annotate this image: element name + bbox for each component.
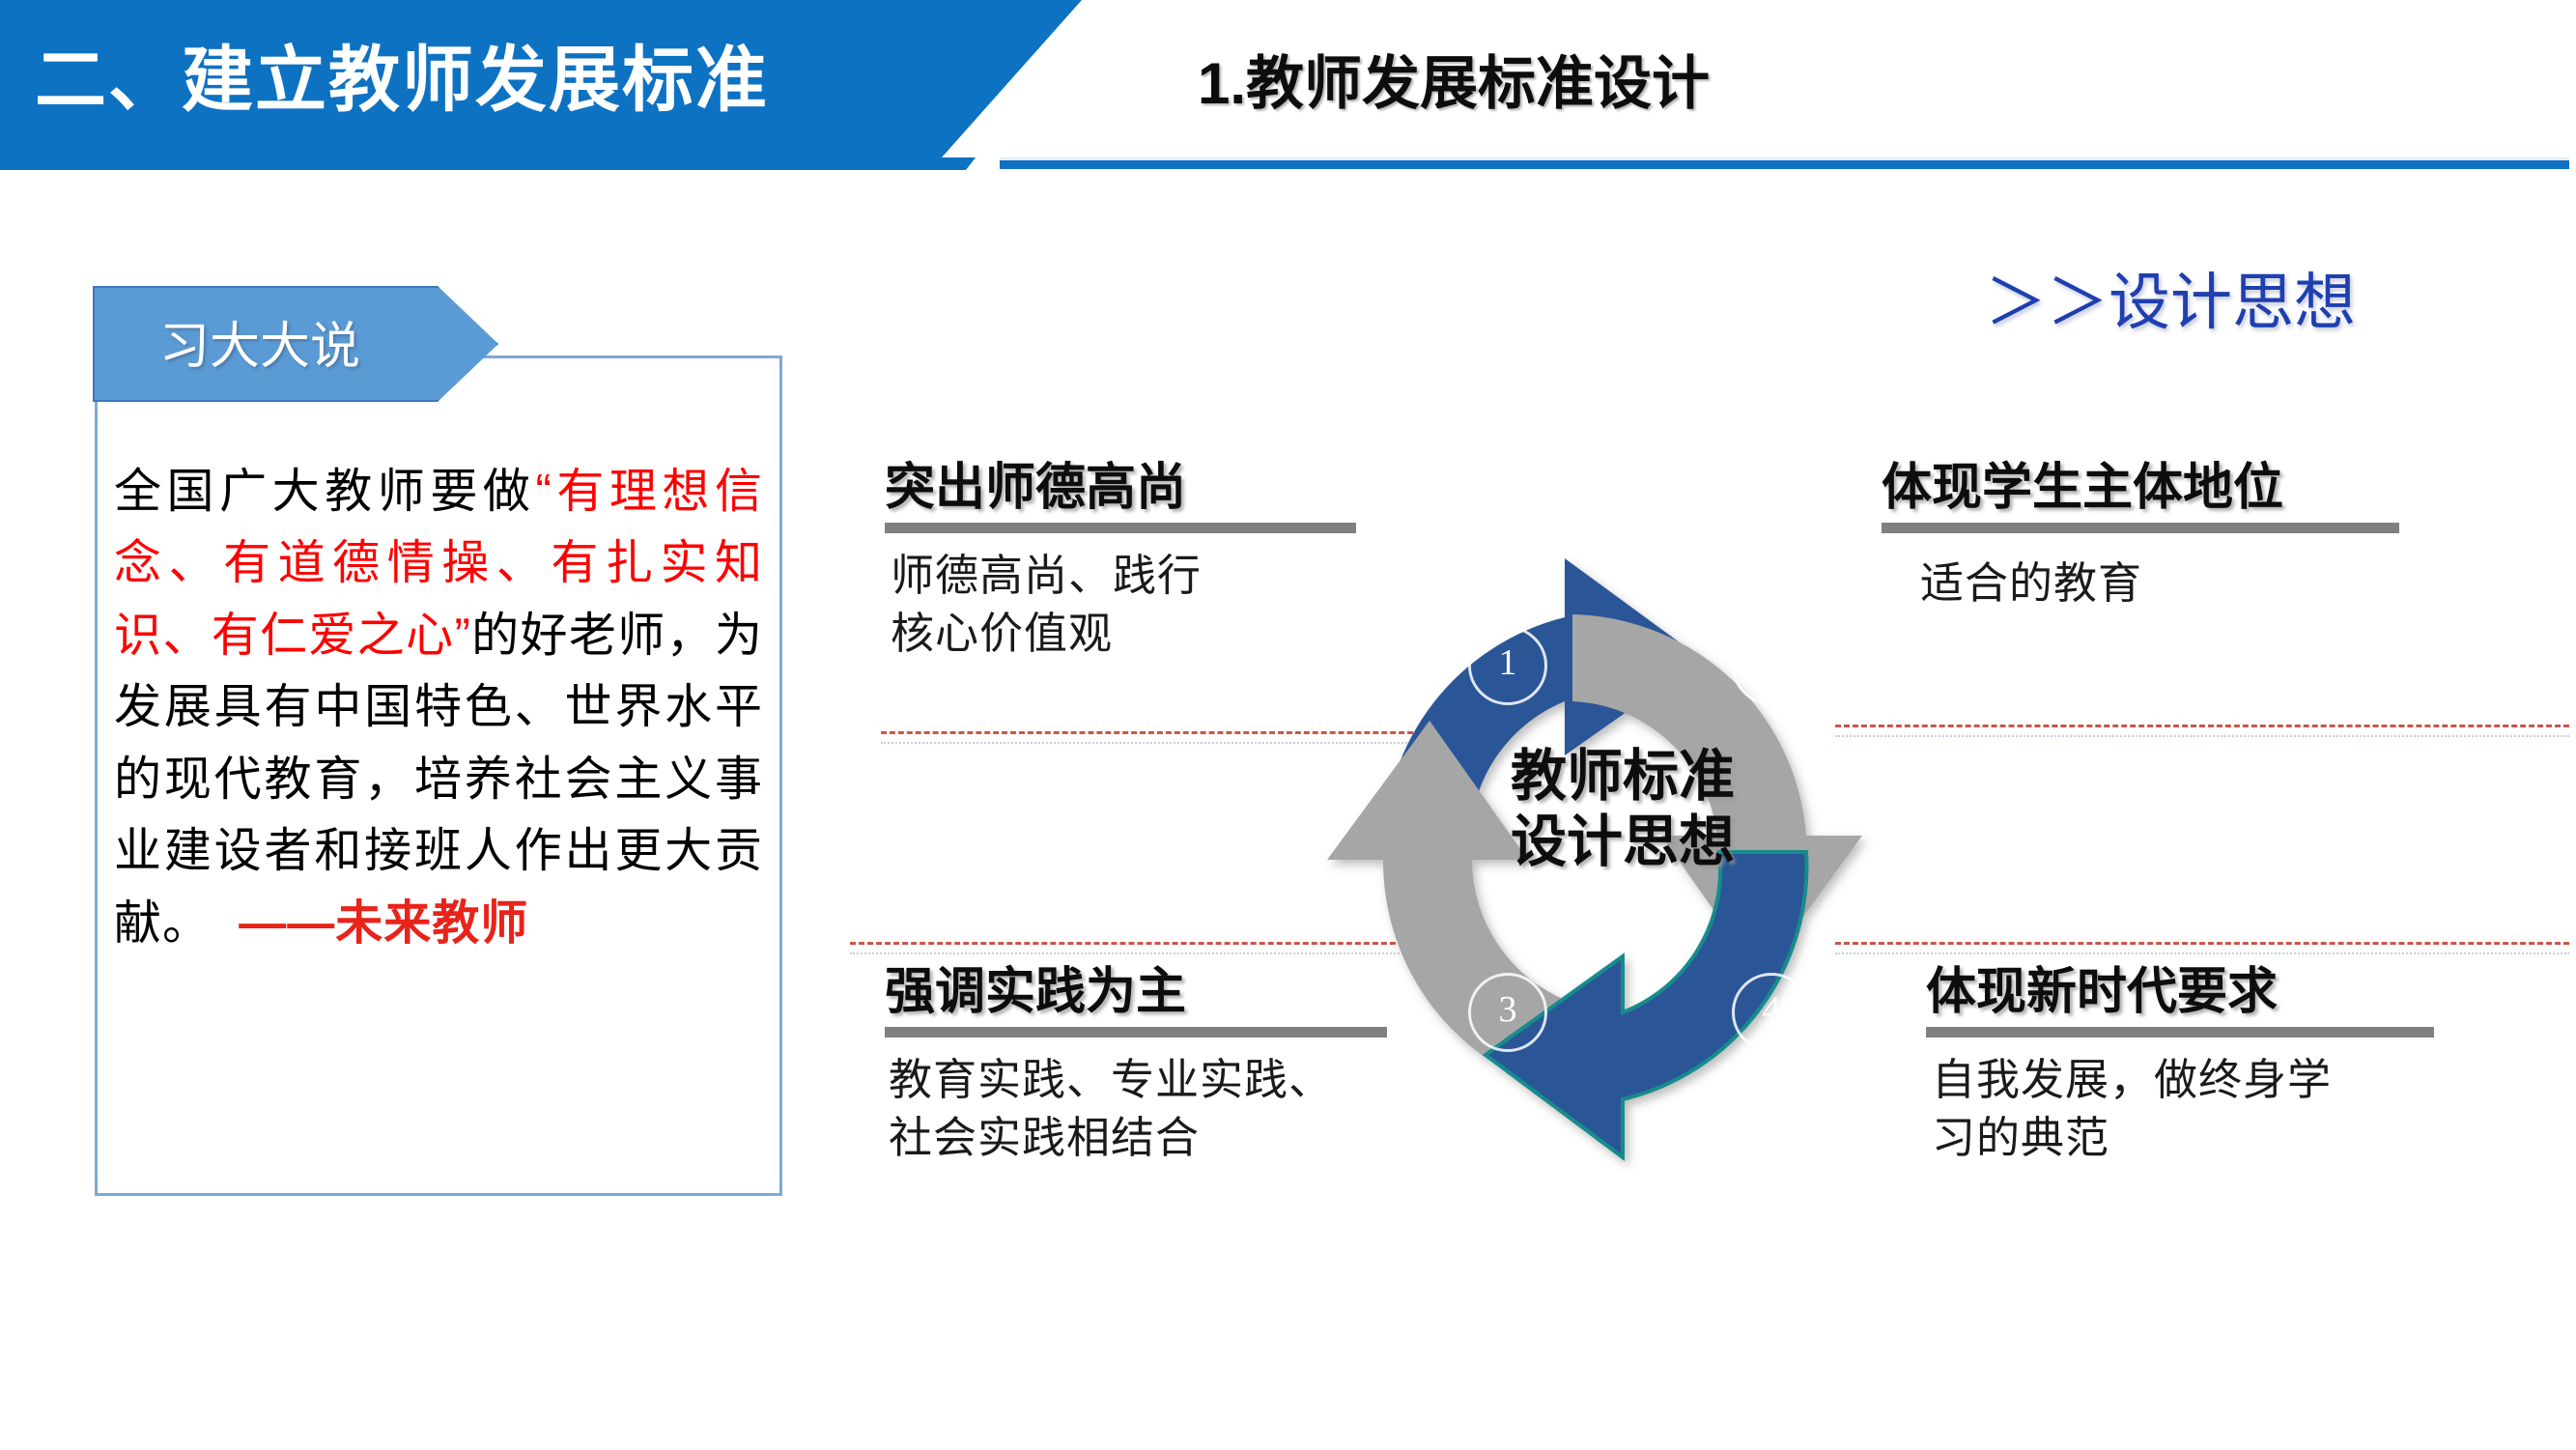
quadrant-1-body-line-1: 师德高尚、践行 (891, 547, 1426, 606)
quadrant-block-3: 强调实践为主 教育实践、专业实践、 社会实践相结合 (885, 966, 1464, 1168)
design-idea-heading: ＞＞设计思想 (1985, 253, 2356, 342)
quadrant-2-title: 体现学生主体地位 (1882, 462, 2480, 515)
quadrant-4-rule (1926, 1027, 2434, 1038)
quadrant-4-title: 体现新时代要求 (1926, 966, 2525, 1019)
guide-line-right-upper (1835, 725, 2569, 727)
cycle-number-badge-2: 2 (1732, 626, 1811, 705)
quadrant-1-rule (885, 523, 1356, 533)
header-blue-band-step (0, 157, 976, 170)
quadrant-block-2: 体现学生主体地位 适合的教育 (1882, 462, 2480, 612)
quadrant-3-body-line-2: 社会实践相结合 (889, 1109, 1464, 1168)
quadrant-block-1: 突出师德高尚 师德高尚、践行 核心价值观 (885, 462, 1426, 664)
quadrant-1-body-line-2: 核心价值观 (891, 605, 1426, 664)
guide-line-right-lower (1835, 942, 2569, 945)
quadrant-1-title: 突出师德高尚 (885, 462, 1426, 515)
quadrant-1-body: 师德高尚、践行 核心价值观 (885, 547, 1426, 665)
quote-body: 全国广大教师要做“有理想信念、有道德情操、有扎实知识、有仁爱之心”的好老师，为发… (114, 456, 763, 959)
cycle-number-badge-3: 3 (1468, 973, 1547, 1052)
guide-line-right-lower-dotted (1835, 952, 2569, 954)
quadrant-4-body-line-2: 习的典范 (1932, 1109, 2525, 1168)
page-title: 二、建立教师发展标准 (35, 27, 904, 133)
cycle-number-badge-1: 1 (1468, 626, 1547, 705)
quadrant-2-rule (1882, 523, 2399, 533)
guide-line-right-upper-dotted (1835, 735, 2569, 737)
quadrant-3-body-line-1: 教育实践、专业实践、 (889, 1051, 1464, 1110)
quadrant-3-rule (885, 1027, 1387, 1038)
quadrant-block-4: 体现新时代要求 自我发展，做终身学 习的典范 (1926, 966, 2525, 1168)
quadrant-4-body: 自我发展，做终身学 习的典范 (1926, 1051, 2525, 1169)
quadrant-3-body: 教育实践、专业实践、 社会实践相结合 (885, 1051, 1464, 1169)
slide-subtitle: 1.教师发展标准设计 (1198, 37, 1710, 121)
quadrant-2-body: 适合的教育 (1882, 554, 2480, 613)
quadrant-2-body-line-1: 适合的教育 (1920, 554, 2480, 613)
quadrant-3-title: 强调实践为主 (885, 966, 1464, 1019)
cycle-number-badge-4: 4 (1732, 973, 1811, 1052)
quote-banner-label: 习大大说 (159, 305, 360, 378)
header-rule (1000, 160, 2569, 169)
quote-attribution: ——未来教师 (239, 897, 528, 950)
quote-part-1: 全国广大教师要做 (114, 466, 535, 518)
quote-banner-text: 习大大说 (159, 319, 360, 375)
quadrant-4-body-line-1: 自我发展，做终身学 (1932, 1051, 2525, 1110)
